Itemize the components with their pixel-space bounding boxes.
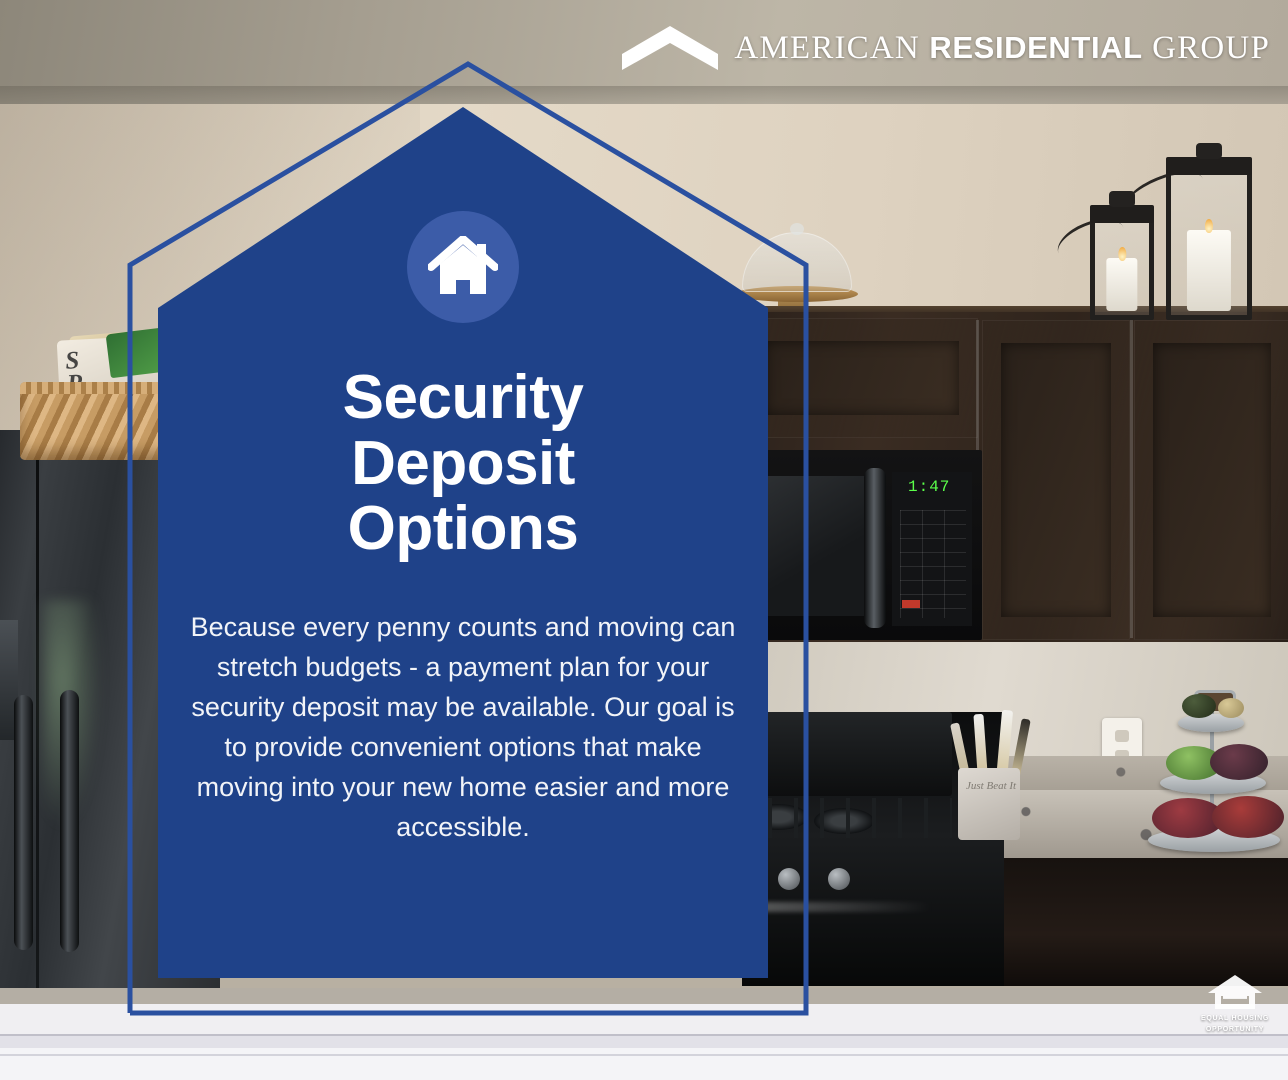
vegetable-4 bbox=[1210, 744, 1268, 780]
cabinet-door-c bbox=[1134, 320, 1288, 640]
body-text: Because every penny counts and moving ca… bbox=[187, 608, 739, 848]
eho-line-2: OPPORTUNITY bbox=[1196, 1025, 1274, 1034]
vegetable-1 bbox=[1182, 694, 1216, 718]
marketing-graphic: SP 1:47 bbox=[0, 0, 1288, 1080]
vegetable-2 bbox=[1218, 698, 1244, 718]
logo-word-group: GROUP bbox=[1152, 30, 1270, 66]
vegetable-6 bbox=[1212, 796, 1284, 838]
woven-basket bbox=[20, 382, 172, 460]
fridge-handle-left bbox=[14, 695, 33, 950]
eho-line-1: EQUAL HOUSING bbox=[1196, 1014, 1274, 1023]
brand-logo: AMERICAN RESIDENTIAL GROUP bbox=[622, 24, 1270, 72]
fridge-seam bbox=[36, 430, 39, 1030]
candle-lantern-small bbox=[1090, 218, 1154, 320]
logo-word-residential: RESIDENTIAL bbox=[929, 30, 1142, 65]
card-content: Security Deposit Options Because every p… bbox=[158, 107, 768, 978]
window-sill bbox=[0, 988, 1288, 1080]
logo-wordmark: AMERICAN RESIDENTIAL GROUP bbox=[734, 30, 1270, 67]
home-icon-badge bbox=[407, 211, 519, 323]
equal-housing-icon bbox=[1206, 972, 1264, 1012]
utensil-crock: Just Beat It bbox=[958, 768, 1020, 840]
cabinet-door-b bbox=[982, 320, 1130, 640]
equal-housing-logo: EQUAL HOUSING OPPORTUNITY bbox=[1196, 972, 1274, 1034]
fridge-handle-right bbox=[60, 690, 79, 952]
logo-word-american: AMERICAN bbox=[734, 30, 920, 66]
page-title: Security Deposit Options bbox=[233, 365, 693, 562]
roof-chevron-icon bbox=[622, 24, 718, 72]
candle-lantern-large bbox=[1166, 170, 1252, 320]
home-icon bbox=[428, 236, 498, 298]
crock-text: Just Beat It bbox=[966, 780, 1016, 793]
microwave-display: 1:47 bbox=[908, 478, 950, 496]
microwave: 1:47 bbox=[742, 450, 982, 640]
cabinet-seam-2 bbox=[1130, 320, 1133, 638]
cabinet-door-a bbox=[746, 318, 978, 438]
